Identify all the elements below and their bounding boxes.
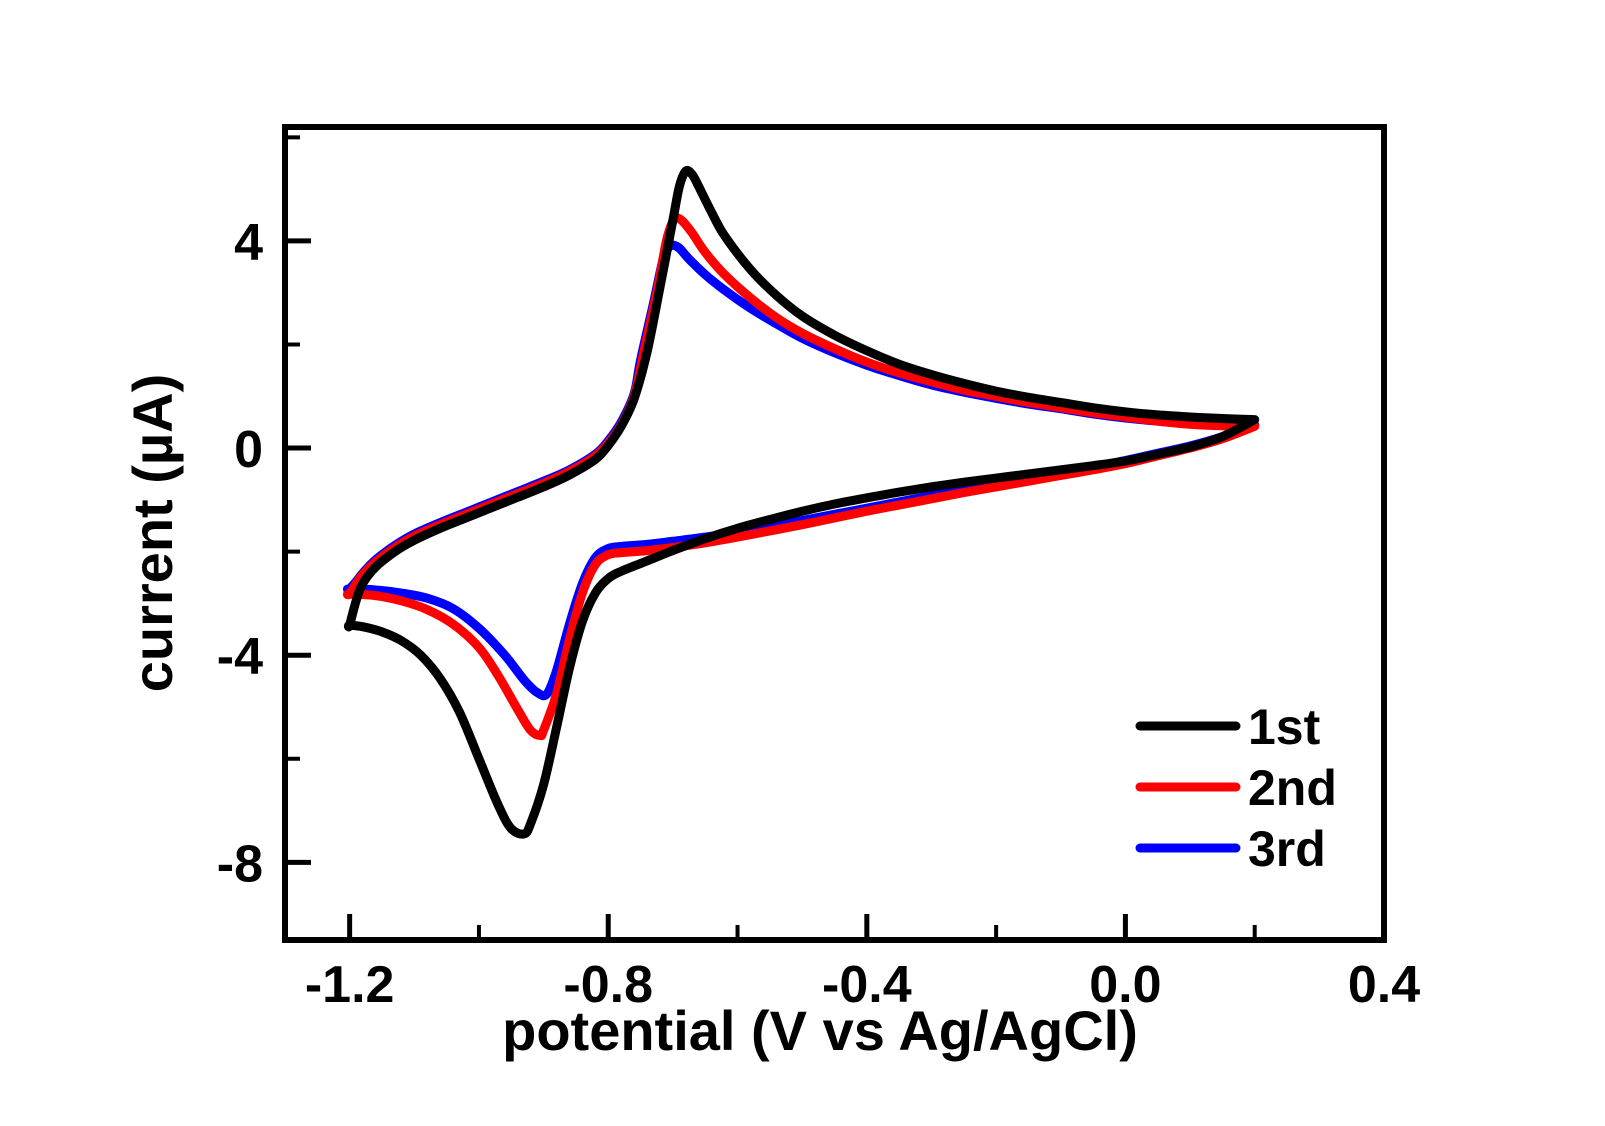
y-tick-label: 0 (234, 421, 263, 479)
plot-background (285, 127, 1384, 940)
y-tick-label: -8 (217, 835, 263, 893)
x-tick-label: 0.4 (1348, 956, 1420, 1014)
chart-legend: 1st2nd3rd (1140, 699, 1337, 877)
x-tick-label: -1.2 (305, 956, 395, 1014)
cyclic-voltammogram-chart: -1.2-0.8-0.40.00.4 40-4-8 potential (V v… (0, 0, 1605, 1126)
x-axis-title: potential (V vs Ag/AgCl) (502, 999, 1138, 1062)
legend-label-2nd: 2nd (1248, 760, 1337, 816)
y-axis-tick-labels: 40-4-8 (217, 214, 263, 893)
y-tick-label: -4 (217, 628, 263, 686)
legend-label-3rd: 3rd (1248, 821, 1326, 877)
cv-figure: -1.2-0.8-0.40.00.4 40-4-8 potential (V v… (0, 0, 1605, 1126)
y-axis-title: current (µA) (121, 374, 184, 693)
y-tick-label: 4 (234, 214, 263, 272)
legend-label-1st: 1st (1248, 699, 1321, 755)
